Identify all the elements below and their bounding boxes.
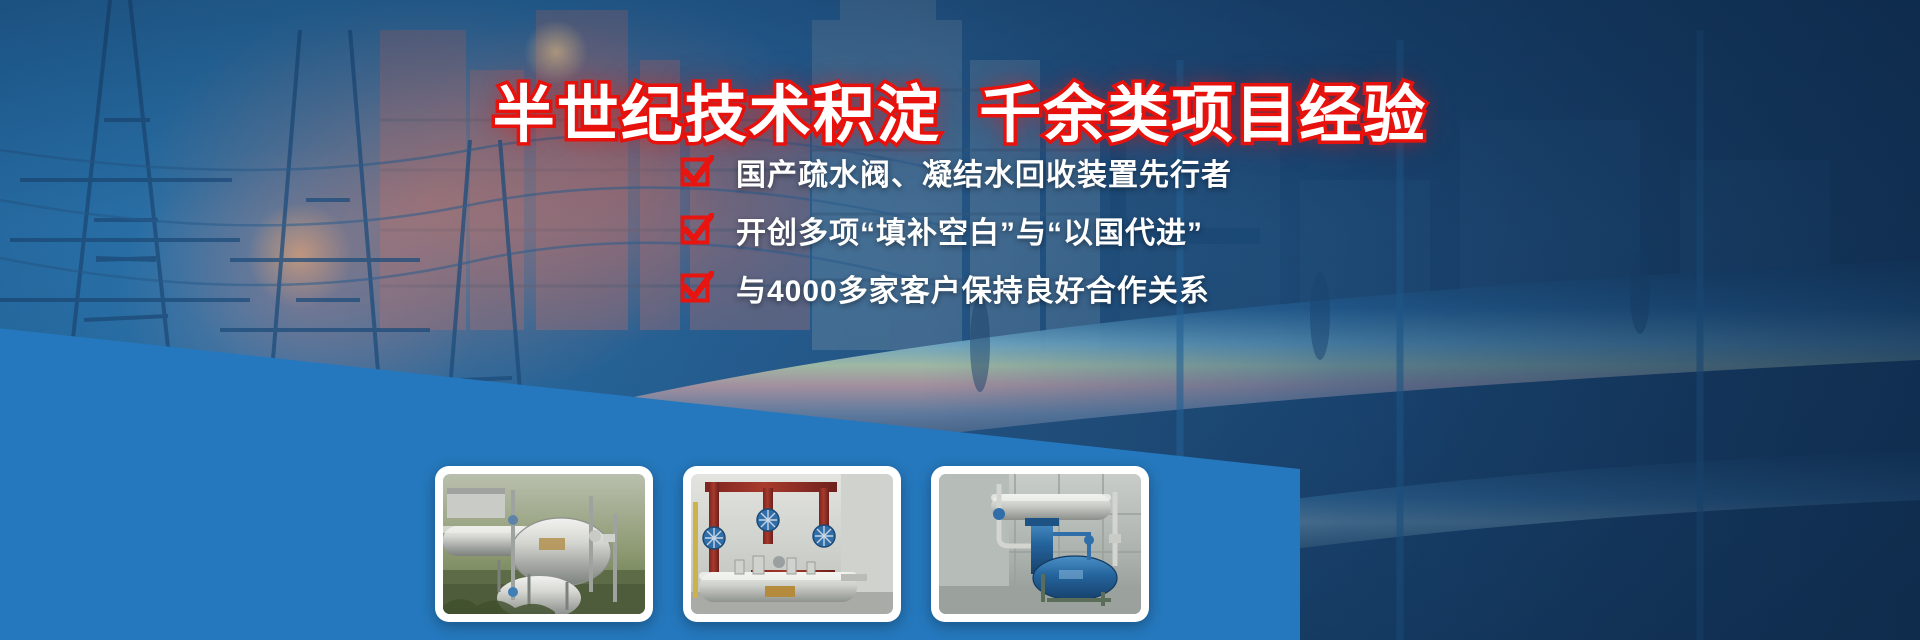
list-item-label: 国产疏水阀、凝结水回收装置先行者 [736,150,1232,194]
check-square-icon [680,155,714,189]
product-photo [691,474,893,614]
list-item: 开创多项“填补空白”与“以国代进” [680,208,1240,252]
promo-banner: 半世纪技术积淀 千余类项目经验 国产疏水阀、凝结水回收装置先行者 [0,0,1920,640]
check-square-icon [680,213,714,247]
list-item-label: 开创多项“填补空白”与“以国代进” [736,208,1203,252]
feature-list: 国产疏水阀、凝结水回收装置先行者 开创多项“填补空白”与“以国代进” [0,150,1920,310]
product-photo [939,474,1141,614]
check-square-icon [680,271,714,305]
list-item: 与4000多家客户保持良好合作关系 [680,266,1240,310]
product-photo [443,474,645,614]
photo-card-red-pipe-valve-station[interactable] [683,466,901,622]
photo-card-condensate-recovery-vessel[interactable] [435,466,653,622]
product-photo-gallery [435,466,1149,622]
page-title: 半世纪技术积淀 千余类项目经验 [0,80,1920,151]
photo-card-blue-skid-unit[interactable] [931,466,1149,622]
list-item: 国产疏水阀、凝结水回收装置先行者 [680,150,1240,194]
list-item-label: 与4000多家客户保持良好合作关系 [736,266,1210,310]
